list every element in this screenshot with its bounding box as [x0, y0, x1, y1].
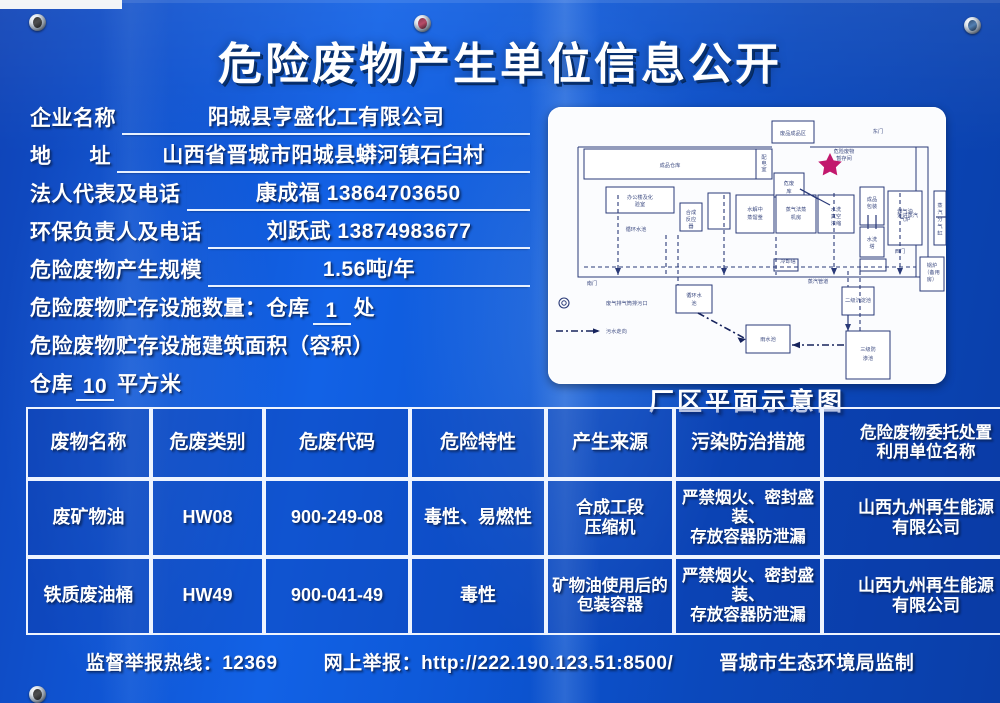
info-row-storage-area-label: 危险废物贮存设施建筑面积（容积）: [30, 325, 530, 363]
svg-text:锅炉: 锅炉: [927, 261, 937, 269]
header-measures: 污染防治措施: [674, 407, 822, 479]
header-waste-category: 危废类别: [151, 407, 264, 479]
svg-text:缸: 缸: [937, 229, 942, 237]
header-source: 产生来源: [546, 407, 674, 479]
svg-text:池: 池: [691, 299, 696, 307]
label-legal-rep: 法人代表及电话: [30, 178, 181, 211]
cell-waste-category: HW49: [151, 557, 264, 635]
svg-text:雨水池: 雨水池: [760, 335, 776, 343]
info-row-storage-area-value: 仓库 10 平方米: [30, 363, 530, 401]
label-storage-area: 危险废物贮存设施建筑面积（容积）: [30, 330, 374, 363]
label-storage-count: 危险废物贮存设施数量：仓库: [30, 292, 310, 325]
value-storage-count: 1: [313, 299, 351, 325]
cell-entrusted-unit: 山西九州再生能源 有限公司: [822, 479, 1000, 557]
svg-text:蒸汽管道: 蒸汽管道: [808, 277, 829, 285]
svg-text:房）: 房）: [927, 275, 937, 283]
svg-text:成品: 成品: [867, 195, 877, 203]
svg-text:气: 气: [937, 222, 942, 230]
value-env-officer: 刘跃武 13874983677: [208, 215, 530, 249]
value-legal-rep: 康成福 13864703650: [187, 177, 531, 211]
cell-waste-code: 900-041-49: [264, 557, 410, 635]
svg-text:电: 电: [761, 159, 766, 167]
hazardous-waste-table: 废物名称 危废类别 危废代码 危险特性 产生来源 污染防治措施 危险废物委托处置…: [26, 407, 1000, 635]
svg-text:蒸馏釜: 蒸馏釜: [747, 213, 763, 221]
svg-text:暂存间: 暂存间: [836, 154, 852, 162]
cell-hazard-property: 毒性、易燃性: [410, 479, 546, 557]
svg-text:塔: 塔: [869, 242, 875, 250]
value-address: 山西省晋城市阳城县蟒河镇石臼村: [117, 139, 530, 173]
svg-text:办公楼及化: 办公楼及化: [627, 193, 653, 201]
svg-text:污水走向: 污水走向: [606, 327, 627, 335]
footer-hotline: 监督举报热线：12369: [86, 648, 278, 675]
table-header-row: 废物名称 危废类别 危废代码 危险特性 产生来源 污染防治措施 危险废物委托处置…: [26, 407, 1000, 479]
svg-text:（备用: （备用: [924, 268, 940, 276]
svg-text:危险废物: 危险废物: [834, 147, 855, 155]
footer-online-report: 网上举报：http://222.190.123.51:8500/: [324, 648, 674, 675]
svg-text:东门: 东门: [873, 127, 883, 135]
information-board: 危险废物产生单位信息公开 企业名称 阳城县亨盛化工有限公司 地 址 山西省晋城市…: [0, 0, 1000, 703]
board-top-edge: [0, 0, 1000, 3]
cell-waste-category: HW08: [151, 479, 264, 557]
suffix-storage-area: 平方米: [117, 368, 182, 401]
cell-measures: 严禁烟火、密封盛装、 存放容器防泄漏: [674, 557, 822, 635]
svg-text:渗池: 渗池: [863, 354, 873, 362]
label-env-officer: 环保负责人及电话: [30, 216, 202, 249]
svg-text:机房: 机房: [791, 213, 801, 221]
svg-text:库: 库: [786, 187, 791, 195]
factory-layout-diagram: 废品成品区 成品仓库 配电室 办公楼及化验室 合成反应器 危废库 水解中蒸馏釜 …: [548, 107, 946, 384]
svg-text:西门: 西门: [895, 247, 905, 255]
info-row-env-officer: 环保负责人及电话 刘跃武 13874983677: [30, 211, 530, 249]
svg-text:南门: 南门: [587, 279, 597, 287]
table-row: 废矿物油 HW08 900-249-08 毒性、易燃性 合成工段 压缩机 严禁烟…: [26, 479, 1000, 557]
svg-text:合成: 合成: [686, 208, 696, 216]
footer-authority: 晋城市生态环境局监制: [719, 648, 914, 675]
cell-source: 矿物油使用后的 包装容器: [546, 557, 674, 635]
svg-text:浓缩: 浓缩: [831, 219, 841, 227]
value-generation-scale: 1.56吨/年: [208, 253, 530, 287]
svg-text:废气排气筒排污口: 废气排气筒排污口: [606, 299, 648, 307]
suffix-storage-count: 处: [354, 292, 376, 325]
svg-text:外进蒸汽: 外进蒸汽: [897, 211, 919, 219]
svg-text:器: 器: [688, 223, 694, 230]
label-address: 地 址: [30, 140, 111, 173]
cell-waste-name: 废矿物油: [26, 479, 151, 557]
svg-text:蒸: 蒸: [937, 201, 942, 209]
svg-text:水解中: 水解中: [747, 205, 763, 213]
label-generation-scale: 危险废物产生规模: [30, 254, 202, 287]
value-company-name: 阳城县亨盛化工有限公司: [122, 101, 530, 135]
svg-text:水洗: 水洗: [831, 205, 842, 213]
svg-text:真空: 真空: [831, 212, 841, 220]
svg-text:包装: 包装: [867, 202, 877, 210]
info-row-storage-count: 危险废物贮存设施数量：仓库 1 处: [30, 287, 530, 325]
svg-text:分: 分: [937, 215, 942, 223]
label-company-name: 企业名称: [30, 102, 116, 135]
header-waste-code: 危废代码: [264, 407, 410, 479]
info-row-legal-rep: 法人代表及电话 康成福 13864703650: [30, 173, 530, 211]
svg-text:二级沉淀池: 二级沉淀池: [845, 296, 871, 304]
page-title: 危险废物产生单位信息公开: [0, 28, 1000, 92]
cell-hazard-property: 毒性: [410, 557, 546, 635]
header-waste-name: 废物名称: [26, 407, 151, 479]
table-row: 铁质废油桶 HW49 900-041-49 毒性 矿物油使用后的 包装容器 严禁…: [26, 557, 1000, 635]
cell-source: 合成工段 压缩机: [546, 479, 674, 557]
svg-text:废品成品区: 废品成品区: [780, 129, 806, 137]
svg-text:配: 配: [761, 154, 767, 161]
bolt-bottom-left: [29, 686, 46, 703]
svg-text:汽: 汽: [937, 208, 943, 216]
svg-text:反应: 反应: [686, 215, 696, 223]
svg-text:循环水池: 循环水池: [626, 225, 647, 233]
svg-text:循环水: 循环水: [686, 291, 702, 299]
footer-bar: 监督举报热线：12369 网上举报：http://222.190.123.51:…: [0, 648, 1000, 675]
company-info-block: 企业名称 阳城县亨盛化工有限公司 地 址 山西省晋城市阳城县蟒河镇石臼村 法人代…: [30, 97, 530, 401]
cell-measures: 严禁烟火、密封盛装、 存放容器防泄漏: [674, 479, 822, 557]
svg-text:室: 室: [761, 165, 766, 173]
cell-waste-name: 铁质废油桶: [26, 557, 151, 635]
label-warehouse: 仓库: [30, 368, 73, 401]
svg-text:三级防: 三级防: [860, 345, 876, 353]
svg-text:成品仓库: 成品仓库: [660, 161, 681, 169]
header-entrusted-unit: 危险废物委托处置 利用单位名称: [822, 407, 1000, 479]
svg-text:验室: 验室: [635, 200, 645, 208]
svg-text:冷却塔: 冷却塔: [780, 257, 796, 265]
header-hazard-property: 危险特性: [410, 407, 546, 479]
info-row-generation-scale: 危险废物产生规模 1.56吨/年: [30, 249, 530, 287]
svg-text:水洗: 水洗: [867, 235, 878, 243]
info-row-company-name: 企业名称 阳城县亨盛化工有限公司: [30, 97, 530, 135]
value-storage-area: 10: [76, 375, 114, 401]
svg-text:蒸气法蒸: 蒸气法蒸: [786, 205, 807, 213]
cell-waste-code: 900-249-08: [264, 479, 410, 557]
cell-entrusted-unit: 山西九州再生能源 有限公司: [822, 557, 1000, 635]
info-row-address: 地 址 山西省晋城市阳城县蟒河镇石臼村: [30, 135, 530, 173]
svg-text:危废: 危废: [784, 179, 794, 187]
